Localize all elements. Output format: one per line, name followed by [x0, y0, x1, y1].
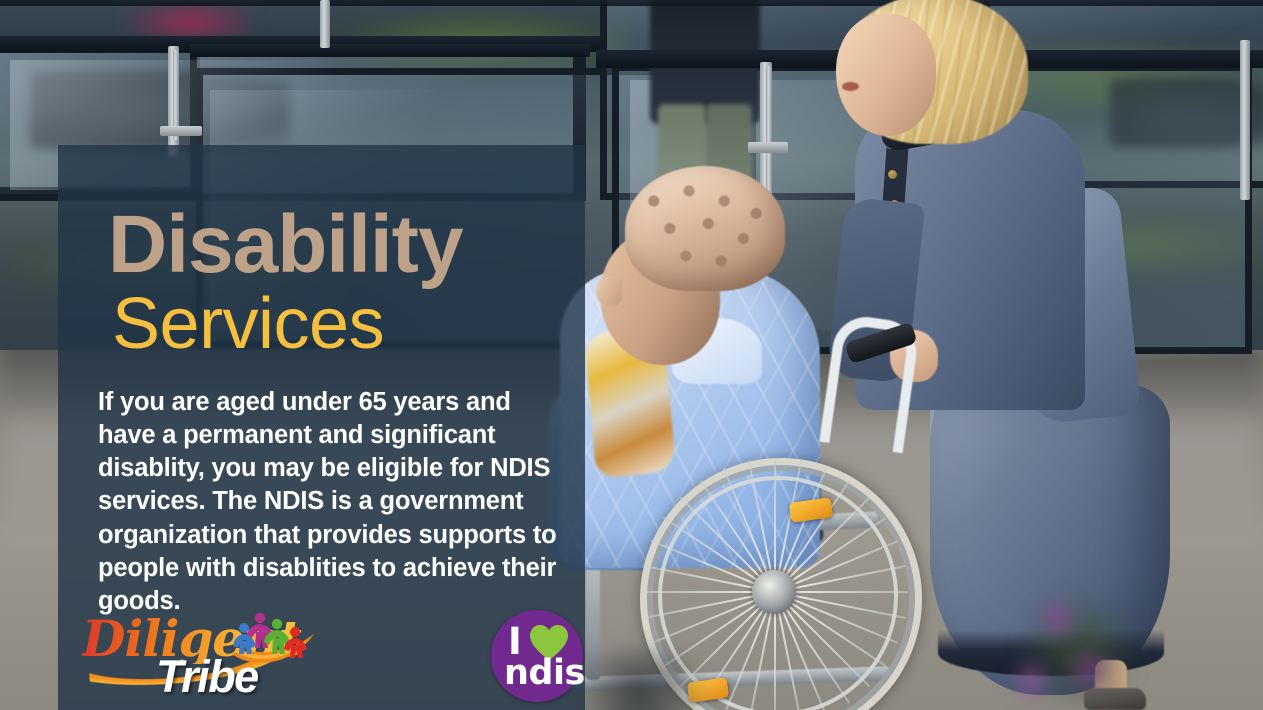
promotional-poster: Disability Services If you are aged unde… [0, 0, 1263, 710]
page-title-primary: Disability [108, 204, 463, 286]
elderly-woman-profile [596, 276, 622, 306]
coat-button [888, 170, 897, 179]
glass-clamp [160, 126, 202, 136]
glass-clamp [748, 142, 788, 153]
foreground-flower [1066, 648, 1114, 692]
wheelchair-hub [752, 570, 796, 614]
body-paragraph: If you are aged under 65 years and have … [98, 386, 568, 618]
ndis-badge-line2: ndis [504, 656, 585, 691]
ndis-badge[interactable]: I ndis [491, 610, 583, 702]
foreground-flower [1010, 662, 1052, 700]
railing-bar [0, 0, 1263, 6]
beanie-knit-texture [625, 166, 785, 291]
diligent-tribe-logo[interactable]: Diligent Tribe [82, 612, 312, 708]
logo-people-icon [230, 610, 316, 671]
crocheted-beanie [625, 166, 785, 291]
carer-lips [842, 82, 859, 91]
railing-post [320, 0, 330, 48]
railing-post [766, 66, 772, 206]
page-title-secondary: Services [112, 288, 384, 360]
railing-bar [190, 44, 590, 57]
carer-head [836, 14, 936, 136]
blurred-colour-blob [130, 4, 250, 40]
foreground-flower [1036, 598, 1080, 638]
railing-post [1240, 40, 1250, 200]
